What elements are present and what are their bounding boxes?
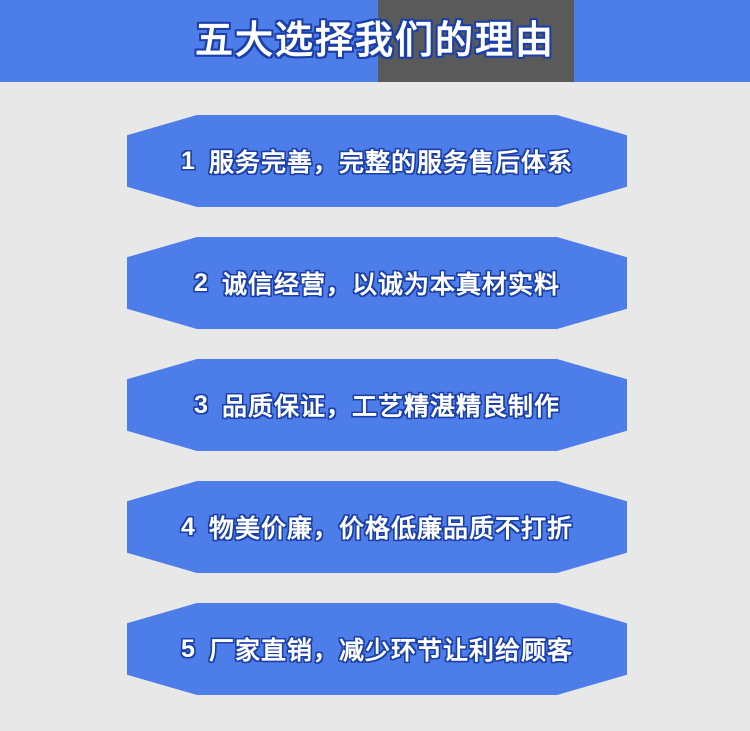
reason-item-1: 1 服务完善，完整的服务售后体系 xyxy=(127,115,627,207)
reason-number-5: 5 xyxy=(181,635,195,664)
reason-number-4: 4 xyxy=(181,513,195,542)
reason-text-3: 品质保证，工艺精湛精良制作 xyxy=(222,387,560,423)
reason-number-3: 3 xyxy=(194,391,208,420)
reasons-list: 1 服务完善，完整的服务售后体系 2 诚信经营，以诚为本真材实料 3 品质保证，… xyxy=(0,82,750,731)
reason-text-5: 厂家直销，减少环节让利给顾客 xyxy=(209,631,573,667)
reason-item-2: 2 诚信经营，以诚为本真材实料 xyxy=(127,237,627,329)
promo-banner: 五大选择我们的理由 1 服务完善，完整的服务售后体系 2 诚信经营，以诚为本真材… xyxy=(0,0,750,731)
reason-text-1: 服务完善，完整的服务售后体系 xyxy=(209,143,573,179)
reason-text-2: 诚信经营，以诚为本真材实料 xyxy=(222,265,560,301)
reason-text-4: 物美价廉，价格低廉品质不打折 xyxy=(209,509,573,545)
reason-item-5: 5 厂家直销，减少环节让利给顾客 xyxy=(127,603,627,695)
reason-item-4: 4 物美价廉，价格低廉品质不打折 xyxy=(127,481,627,573)
reason-item-3: 3 品质保证，工艺精湛精良制作 xyxy=(127,359,627,451)
reason-number-2: 2 xyxy=(194,269,208,298)
banner-title: 五大选择我们的理由 xyxy=(0,0,750,82)
banner-header: 五大选择我们的理由 xyxy=(0,0,750,82)
reason-number-1: 1 xyxy=(181,147,195,176)
